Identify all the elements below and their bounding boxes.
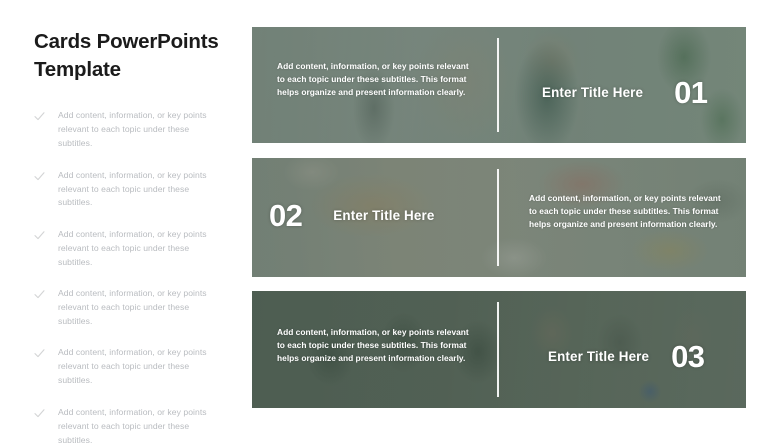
card-01[interactable]: Add content, information, or key points …	[252, 27, 746, 143]
card-01-number: 01	[674, 77, 707, 108]
check-icon	[34, 408, 45, 419]
card-01-title: Enter Title Here	[542, 85, 643, 100]
list-item[interactable]: Add content, information, or key points …	[34, 287, 246, 329]
card-01-title-group: Enter Title Here 01	[542, 77, 707, 108]
card-03-number: 03	[671, 341, 704, 372]
bullet-list: Add content, information, or key points …	[34, 109, 246, 447]
card-03-title-group: Enter Title Here 03	[548, 341, 704, 372]
card-03-body: Add content, information, or key points …	[277, 326, 473, 364]
list-item[interactable]: Add content, information, or key points …	[34, 228, 246, 270]
card-02[interactable]: 02 Enter Title Here Add content, informa…	[252, 158, 746, 277]
card-02-body: Add content, information, or key points …	[529, 192, 725, 230]
list-item-label: Add content, information, or key points …	[58, 346, 218, 388]
list-item[interactable]: Add content, information, or key points …	[34, 346, 246, 388]
card-02-title-group: 02 Enter Title Here	[269, 200, 434, 231]
check-icon	[34, 230, 45, 241]
card-01-divider	[497, 38, 499, 132]
list-item-label: Add content, information, or key points …	[58, 109, 218, 151]
list-item-label: Add content, information, or key points …	[58, 406, 218, 447]
card-03-divider	[497, 302, 499, 397]
list-item-label: Add content, information, or key points …	[58, 287, 218, 329]
check-icon	[34, 111, 45, 122]
check-icon	[34, 289, 45, 300]
card-03[interactable]: Add content, information, or key points …	[252, 291, 746, 408]
card-03-title: Enter Title Here	[548, 349, 649, 364]
list-item[interactable]: Add content, information, or key points …	[34, 406, 246, 447]
card-02-title: Enter Title Here	[333, 208, 434, 223]
left-content-panel: Cards PowerPoints Template Add content, …	[34, 28, 246, 404]
check-icon	[34, 171, 45, 182]
check-icon	[34, 348, 45, 359]
list-item-label: Add content, information, or key points …	[58, 169, 218, 211]
card-02-divider	[497, 169, 499, 266]
page-title: Cards PowerPoints Template	[34, 28, 239, 83]
list-item[interactable]: Add content, information, or key points …	[34, 109, 246, 151]
card-01-body: Add content, information, or key points …	[277, 60, 473, 98]
list-item[interactable]: Add content, information, or key points …	[34, 169, 246, 211]
card-02-number: 02	[269, 200, 302, 231]
list-item-label: Add content, information, or key points …	[58, 228, 218, 270]
